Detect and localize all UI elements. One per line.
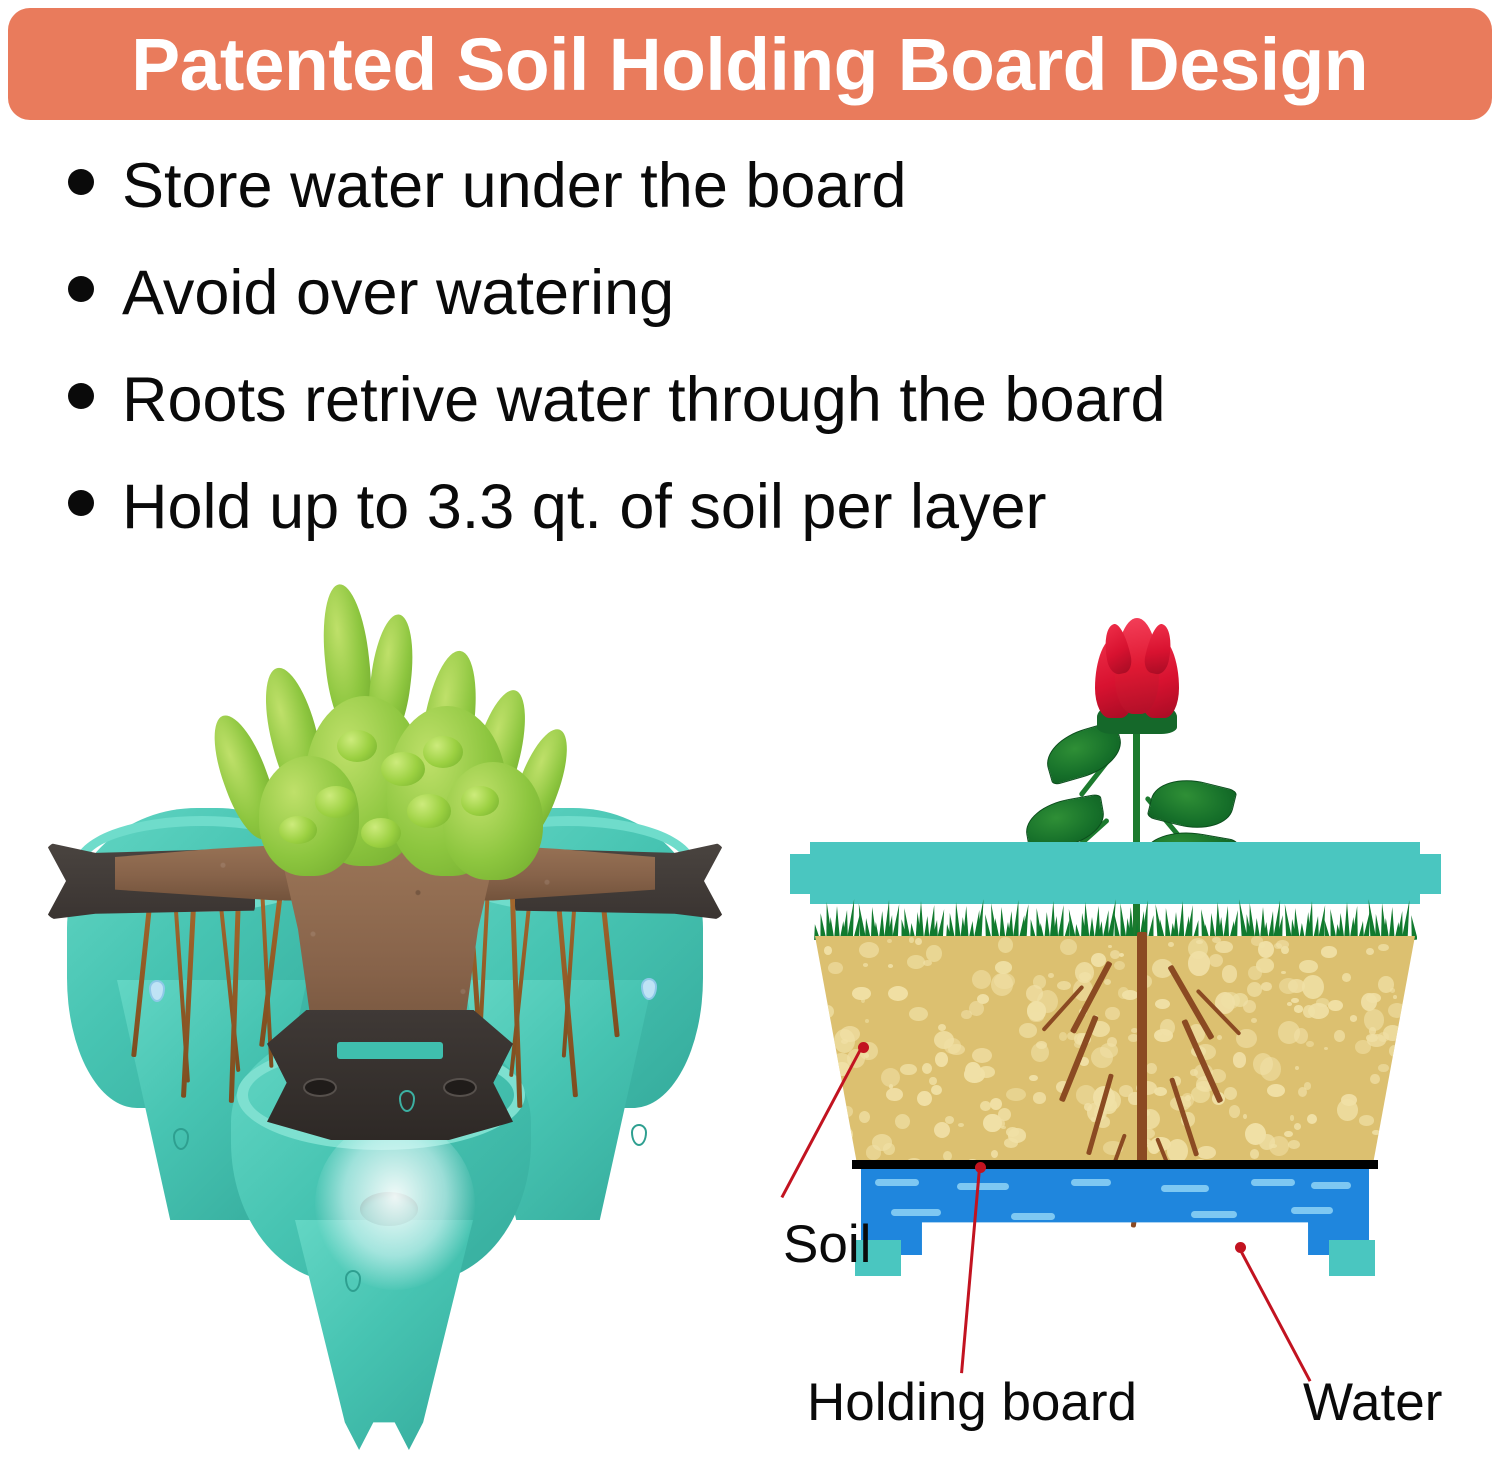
soil-pebble — [1337, 1099, 1357, 1121]
bullet-dot-icon — [68, 490, 94, 516]
banner-title: Patented Soil Holding Board Design — [132, 22, 1369, 107]
soil-pebble — [1367, 1034, 1387, 1047]
soil-pebble — [1378, 1064, 1388, 1072]
soil-pebble — [1006, 1088, 1026, 1101]
pot-rim-band — [810, 842, 1420, 904]
soil-pebble — [1359, 1115, 1375, 1126]
soil-pebble — [980, 1101, 991, 1111]
soil-pebble — [931, 1085, 942, 1096]
soil-pebble — [828, 962, 843, 975]
water-wave — [875, 1179, 919, 1186]
water-wave — [1191, 1211, 1237, 1218]
soil-pebble — [1385, 1124, 1392, 1131]
soil-pebble — [1400, 1116, 1404, 1119]
soil-pebble — [1294, 1123, 1301, 1130]
soil-pebble — [965, 1062, 981, 1080]
water-wave — [891, 1209, 941, 1216]
soil-pebble — [1366, 948, 1374, 955]
soil-pebble — [1324, 1047, 1329, 1051]
soil-pebble — [1281, 971, 1286, 974]
soil-pebble — [907, 955, 925, 969]
soil-pebble — [991, 1150, 998, 1158]
figures-row: Soil Holding board Water — [0, 580, 1500, 1469]
soil-pebble — [1372, 1130, 1379, 1135]
soil-pebble — [842, 1106, 853, 1117]
water-reservoir — [861, 1169, 1369, 1255]
soil-pebble — [1298, 1087, 1307, 1097]
holding-board-hole-right — [443, 1078, 477, 1097]
soil-pebble — [821, 1005, 834, 1018]
header-banner: Patented Soil Holding Board Design — [8, 8, 1492, 120]
soil-pebble — [994, 973, 1015, 989]
soil-pebble — [969, 1001, 984, 1016]
soil-pebble — [1281, 946, 1289, 955]
soil-pebble — [1251, 936, 1264, 945]
cross-section-diagram: Soil Holding board Water — [755, 580, 1475, 1469]
list-item-label: Store water under the board — [122, 155, 907, 218]
soil-pebble — [929, 1077, 937, 1086]
soil-pebble — [824, 946, 832, 955]
soil-pebble — [1366, 993, 1381, 1003]
soil-pebble — [1250, 1149, 1259, 1159]
soil-pebble — [1233, 1052, 1247, 1068]
list-item: Avoid over watering — [40, 262, 1460, 369]
water-splash — [315, 1120, 475, 1290]
soil-pebble — [1342, 973, 1351, 982]
soil-pebble — [1307, 1114, 1317, 1124]
soil-pebble — [1387, 1114, 1400, 1125]
soil-pebble — [1248, 966, 1261, 980]
soil-pebble — [1036, 1041, 1047, 1049]
soil-pebble — [859, 1111, 871, 1124]
soil-pebble — [1321, 946, 1336, 957]
soil-pebble — [1048, 973, 1054, 978]
soil-pebble — [859, 942, 879, 958]
water-wave — [1071, 1179, 1111, 1186]
soil-pebble — [888, 964, 894, 968]
soil-pebble — [1270, 1144, 1276, 1148]
soil-pebble — [1251, 1018, 1257, 1023]
soil-pebble — [863, 963, 868, 966]
callout-label-water: Water — [1303, 1376, 1442, 1429]
soil-pebble — [1299, 960, 1318, 974]
soil-pebble — [1290, 1115, 1295, 1120]
soil-pebble — [895, 1114, 911, 1129]
soil-pebble — [972, 970, 992, 989]
soil-pebble — [1388, 1003, 1406, 1018]
soil-pebble — [1389, 1100, 1396, 1106]
water-wave — [1311, 1182, 1351, 1189]
water-wave — [1011, 1213, 1055, 1220]
water-wave — [1251, 1179, 1295, 1186]
holding-board-line — [852, 1160, 1378, 1169]
soil-pebble — [1393, 995, 1397, 999]
soil-pebble — [1243, 1114, 1247, 1119]
soil-pebble — [915, 938, 922, 945]
soil-pebble — [1260, 1057, 1281, 1081]
soil-pebble — [935, 1052, 948, 1066]
soil-pebble — [1279, 978, 1298, 994]
soil-pebble — [922, 1063, 932, 1074]
holding-board-hub — [267, 1010, 513, 1140]
soil-pebble — [1306, 1041, 1314, 1047]
infographic-page: Patented Soil Holding Board Design Store… — [0, 0, 1500, 1469]
soil-pebble — [861, 998, 866, 1003]
soil-pebble — [1334, 1030, 1345, 1042]
list-item: Store water under the board — [40, 155, 1460, 262]
soil-pebble — [836, 1099, 843, 1104]
soil-pebble — [888, 986, 908, 1001]
soil-pebble — [1328, 1000, 1343, 1011]
soil-pebble — [1302, 975, 1324, 999]
soil-pebble — [820, 1072, 840, 1088]
rose-leaf — [1146, 771, 1237, 837]
soil-pebble — [1370, 1074, 1380, 1085]
soil-pebble — [995, 961, 1012, 974]
soil-pebble — [886, 1088, 903, 1102]
soil-pebble — [1295, 1066, 1299, 1070]
callout-label-holding-board: Holding board — [807, 1376, 1137, 1429]
bullet-dot-icon — [68, 169, 94, 195]
soil-pebble — [917, 1091, 932, 1106]
holding-board-hole-left — [303, 1078, 337, 1097]
soil-pebble — [889, 1084, 893, 1089]
soil-pebble — [1294, 1005, 1302, 1012]
soil-pebble — [1378, 976, 1394, 993]
soil-pebble — [923, 960, 932, 966]
soil-pebble — [1287, 1002, 1292, 1006]
soil-pebble — [1378, 944, 1388, 951]
foliage-plant — [175, 580, 605, 880]
soil-pebble — [1397, 1067, 1403, 1072]
soil-pebble — [998, 937, 1013, 953]
soil-pebble — [833, 1126, 854, 1143]
soil-pebble — [1377, 1137, 1386, 1147]
soil-pebble — [1308, 1003, 1330, 1020]
soil-pebble — [972, 1048, 993, 1063]
soil-pebble — [1364, 1009, 1385, 1031]
soil-pebble — [900, 1064, 916, 1075]
soil-pebble — [1033, 975, 1046, 989]
callout-label-soil: Soil — [783, 1218, 871, 1271]
soil-pebble — [1267, 1084, 1285, 1097]
soil-pebble — [998, 1108, 1011, 1121]
list-item: Roots retrive water through the board — [40, 369, 1460, 476]
soil-pebble — [883, 1143, 895, 1155]
callout-leader-water — [1238, 1248, 1311, 1382]
stacked-planter-photo — [45, 580, 725, 1460]
water-wave — [957, 1183, 1009, 1190]
soil-pebble — [1404, 1152, 1415, 1163]
soil-pebble — [1001, 1126, 1005, 1130]
list-item: Hold up to 3.3 qt. of soil per layer — [40, 476, 1460, 583]
holding-board-slot — [337, 1042, 443, 1059]
soil-pebble — [1004, 1138, 1017, 1148]
soil-pebble — [1261, 982, 1272, 991]
soil-pebble — [1224, 1087, 1238, 1100]
soil-pebble — [958, 1123, 964, 1127]
water-droplet-icon — [631, 1124, 647, 1146]
bullet-dot-icon — [68, 383, 94, 409]
soil-pebble — [865, 1019, 869, 1023]
soil-pebble — [1350, 1015, 1358, 1021]
list-item-label: Roots retrive water through the board — [122, 369, 1166, 432]
water-wave — [1291, 1207, 1333, 1214]
soil-pebble — [1389, 1045, 1400, 1057]
bullet-dot-icon — [68, 276, 94, 302]
soil-pebble — [1288, 1140, 1300, 1150]
feature-list: Store water under the board Avoid over w… — [40, 155, 1460, 583]
list-item-label: Hold up to 3.3 qt. of soil per layer — [122, 476, 1047, 539]
list-item-label: Avoid over watering — [122, 262, 674, 325]
soil-pebble — [1019, 1023, 1037, 1038]
soil-pebble — [909, 1007, 928, 1021]
soil-pebble — [1229, 1105, 1240, 1118]
soil-pebble — [1284, 1131, 1292, 1137]
water-wave — [1161, 1185, 1209, 1192]
soil-pebble — [1291, 998, 1299, 1004]
soil-pebble — [1247, 982, 1262, 997]
soil-pebble — [830, 1125, 847, 1137]
soil-pebble — [909, 937, 914, 942]
soil-pebble — [1029, 1075, 1037, 1081]
soil-pebble — [887, 939, 892, 943]
soil-pebble — [1033, 1092, 1046, 1103]
soil-pebble — [1243, 1000, 1256, 1013]
soil-pebble — [834, 1151, 843, 1159]
soil-pebble — [934, 1122, 951, 1139]
pot-foot-right — [1329, 1240, 1375, 1276]
